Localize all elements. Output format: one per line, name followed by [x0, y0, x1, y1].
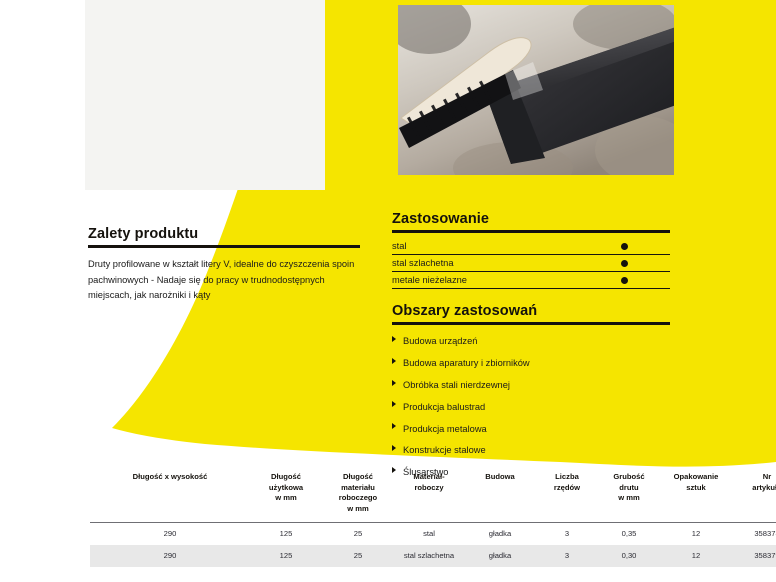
column-header-working-material: Materiał- roboczy	[394, 466, 464, 523]
column-header-working-material-length: Długość materiału roboczego w mm	[322, 466, 394, 523]
cell-usable-length: 125	[250, 523, 322, 546]
triangle-bullet-icon	[392, 423, 396, 429]
list-item-label: Produkcja metalowa	[403, 424, 487, 434]
application-heading: Zastosowanie	[392, 211, 677, 227]
triangle-bullet-icon	[392, 380, 396, 386]
cell-article-no: 358379	[732, 545, 776, 567]
product-photo-background	[85, 0, 325, 190]
benefits-block: Zalety produktu Druty profilowane w kszt…	[88, 226, 368, 304]
application-materials-table: stal stal szlachetna metale nieżelazne	[392, 238, 670, 289]
areas-heading: Obszary zastosowań	[392, 303, 677, 319]
cell-package: 12	[660, 523, 732, 546]
benefits-heading: Zalety produktu	[88, 226, 368, 242]
application-material-label: stal	[392, 238, 578, 255]
triangle-bullet-icon	[392, 358, 396, 364]
application-block: Zastosowanie stal stal szlachetna meta	[392, 211, 677, 289]
benefits-description: Druty profilowane w kształt litery V, id…	[88, 257, 363, 304]
application-material-label: metale nieżelazne	[392, 272, 578, 289]
application-heading-rule	[392, 230, 670, 233]
list-item: Budowa urządzeń	[392, 331, 677, 353]
product-photo	[85, 0, 325, 190]
list-item: Produkcja balustrad	[392, 396, 677, 418]
triangle-bullet-icon	[392, 445, 396, 451]
cell-usable-length: 125	[250, 545, 322, 567]
triangle-bullet-icon	[392, 401, 396, 407]
column-header-usable-length: Długość użytkowa w mm	[250, 466, 322, 523]
filled-circle-icon	[621, 260, 628, 267]
areas-heading-rule	[392, 322, 670, 325]
cell-length-height: 290	[90, 523, 250, 546]
benefits-heading-rule	[88, 245, 360, 248]
list-item-label: Produkcja balustrad	[403, 402, 485, 412]
table-row: stal szlachetna	[392, 255, 670, 272]
table-row: 290 125 25 stal szlachetna gładka 3 0,30…	[90, 545, 776, 567]
cell-construction: gładka	[464, 545, 536, 567]
column-header-package: Opakowanie sztuk	[660, 466, 732, 523]
table-row: stal	[392, 238, 670, 255]
column-header-article-no: Nr artykułu	[732, 466, 776, 523]
cell-article-no: 358378	[732, 523, 776, 546]
product-datasheet-page: Zalety produktu Druty profilowane w kszt…	[0, 0, 776, 582]
column-header-construction: Budowa	[464, 466, 536, 523]
list-item: Konstrukcje stalowe	[392, 440, 677, 462]
cell-working-material: stal	[394, 523, 464, 546]
column-header-row-count: Liczba rzędów	[536, 466, 598, 523]
cell-wire-thickness: 0,30	[598, 545, 660, 567]
list-item-label: Budowa aparatury i zbiorników	[403, 358, 530, 368]
cell-working-material: stal szlachetna	[394, 545, 464, 567]
application-material-mark	[578, 238, 670, 255]
cell-row-count: 3	[536, 545, 598, 567]
specification-table: Długość x wysokość Długość użytkowa w mm…	[90, 466, 776, 567]
list-item-label: Budowa urządzeń	[403, 336, 477, 346]
filled-circle-icon	[621, 277, 628, 284]
cell-working-material-length: 25	[322, 523, 394, 546]
table-row: 290 125 25 stal gładka 3 0,35 12 358378	[90, 523, 776, 546]
cell-wire-thickness: 0,35	[598, 523, 660, 546]
list-item: Budowa aparatury i zbiorników	[392, 353, 677, 375]
list-item: Produkcja metalowa	[392, 418, 677, 440]
column-header-wire-thickness: Grubość drutu w mm	[598, 466, 660, 523]
list-item: Obróbka stali nierdzewnej	[392, 375, 677, 397]
cell-construction: gładka	[464, 523, 536, 546]
cell-row-count: 3	[536, 523, 598, 546]
table-header-row: Długość x wysokość Długość użytkowa w mm…	[90, 466, 776, 523]
list-item-label: Konstrukcje stalowe	[403, 445, 486, 455]
application-photo	[393, 0, 679, 180]
areas-of-application-block: Obszary zastosowań Budowa urządzeń Budow…	[392, 303, 677, 483]
cell-package: 12	[660, 545, 732, 567]
filled-circle-icon	[621, 243, 628, 250]
application-photo-illustration	[393, 0, 679, 180]
cell-working-material-length: 25	[322, 545, 394, 567]
areas-list: Budowa urządzeń Budowa aparatury i zbior…	[392, 331, 677, 483]
application-material-mark	[578, 255, 670, 272]
column-header-length-height: Długość x wysokość	[90, 466, 250, 523]
application-material-mark	[578, 272, 670, 289]
cell-length-height: 290	[90, 545, 250, 567]
triangle-bullet-icon	[392, 336, 396, 342]
table-row: metale nieżelazne	[392, 272, 670, 289]
list-item-label: Obróbka stali nierdzewnej	[403, 380, 510, 390]
application-material-label: stal szlachetna	[392, 255, 578, 272]
